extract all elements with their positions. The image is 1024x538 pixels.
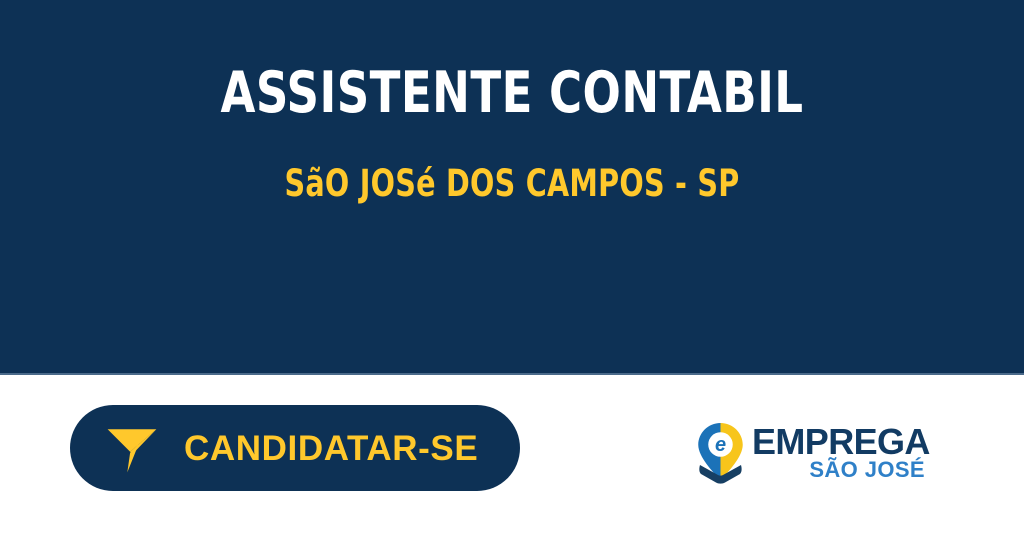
brand-wordmark: EMPREGA SÃO JOSÉ	[752, 422, 925, 484]
brand-logo[interactable]: e EMPREGA SÃO JOSÉ	[697, 422, 925, 488]
apply-button[interactable]: CANDIDATAR-SE	[70, 405, 520, 491]
brand-name: EMPREGA	[752, 423, 930, 461]
send-icon	[102, 418, 162, 478]
map-pin-icon: e	[697, 422, 744, 484]
brand-city: SÃO JOSÉ	[809, 458, 925, 482]
page-title: ASSISTENTE CONTABIL	[61, 59, 962, 127]
svg-text:e: e	[715, 434, 726, 456]
hero-panel: ASSISTENTE CONTABIL SãO JOSé DOS CAMPOS …	[0, 0, 1024, 375]
apply-button-label: CANDIDATAR-SE	[184, 431, 478, 466]
job-posting-card: ASSISTENTE CONTABIL SãO JOSé DOS CAMPOS …	[0, 0, 1024, 538]
job-location: SãO JOSé DOS CAMPOS - SP	[72, 161, 953, 207]
